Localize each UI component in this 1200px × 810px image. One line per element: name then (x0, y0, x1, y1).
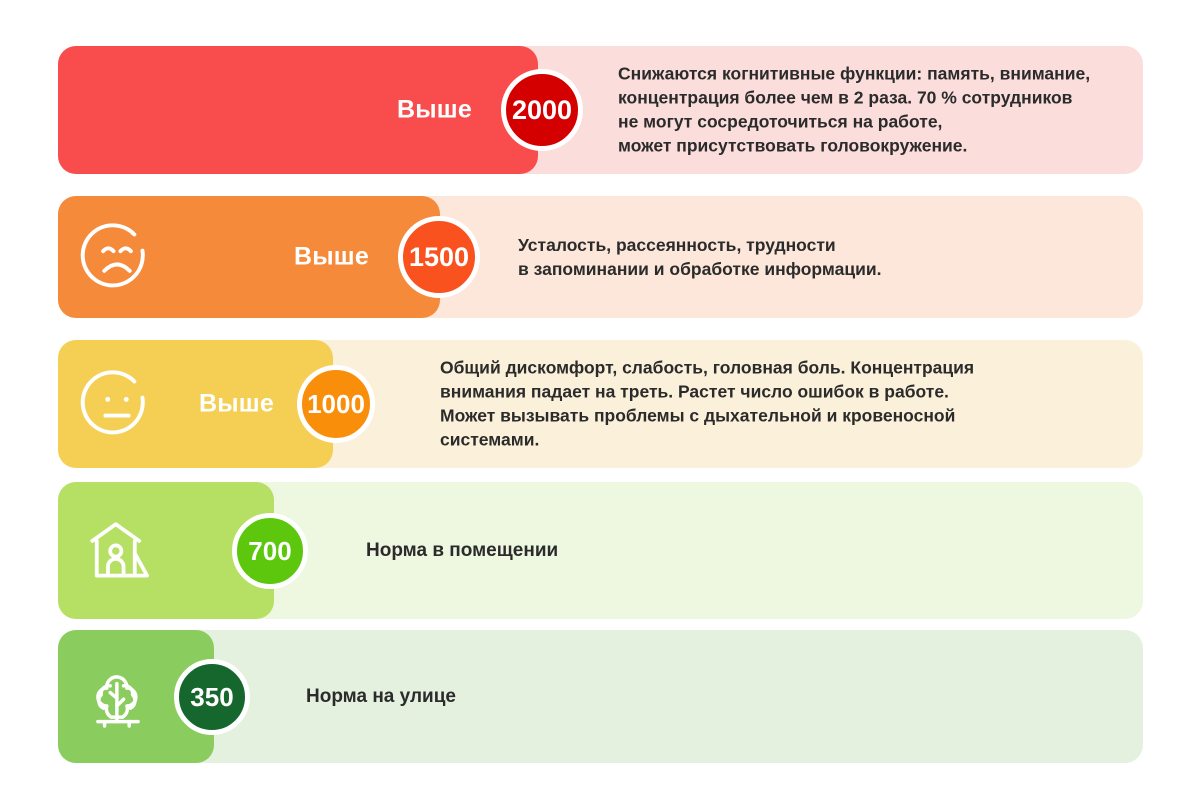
row-700: 700 Норма в помещении (58, 482, 1143, 619)
row-1000-prefix: Выше (199, 390, 274, 419)
row-1500-value: 1500 (409, 244, 469, 271)
row-350-badge: 350 (174, 659, 250, 735)
row-2000-value: 2000 (512, 97, 572, 124)
trees-icon (80, 659, 156, 735)
infographic-rows: Выше 2000 Снижаются когнитивные функции:… (0, 0, 1200, 810)
row-2000-badge: 2000 (501, 69, 583, 151)
row-1000-description: Общий дискомфорт, слабость, головная бол… (440, 356, 1100, 453)
row-700-badge: 700 (232, 513, 308, 589)
row-1500-description: Усталость, рассеянность, трудности в зап… (518, 233, 1078, 281)
row-1500-badge: 1500 (398, 216, 480, 298)
row-350-value: 350 (190, 684, 233, 710)
row-350: 350 Норма на улице (58, 630, 1143, 763)
row-1000-value: 1000 (307, 391, 365, 417)
row-1000-badge: 1000 (297, 365, 375, 443)
row-700-value: 700 (248, 538, 291, 564)
row-1000: Выше 1000 Общий дискомфорт, слабость, го… (58, 340, 1143, 468)
row-2000-description: Снижаются когнитивные функции: память, в… (618, 62, 1178, 159)
row-2000: Выше 2000 Снижаются когнитивные функции:… (58, 46, 1143, 174)
row-1500-prefix: Выше (294, 243, 369, 272)
row-2000-prefix: Выше (397, 96, 472, 125)
indoor-playhouse-icon (80, 513, 156, 589)
neutral-face-icon (80, 367, 154, 441)
row-700-description: Норма в помещении (366, 537, 926, 563)
row-350-description: Норма на улице (306, 683, 866, 709)
row-1500: Выше 1500 Усталость, рассеянность, трудн… (58, 196, 1143, 318)
sad-face-icon (80, 220, 154, 294)
